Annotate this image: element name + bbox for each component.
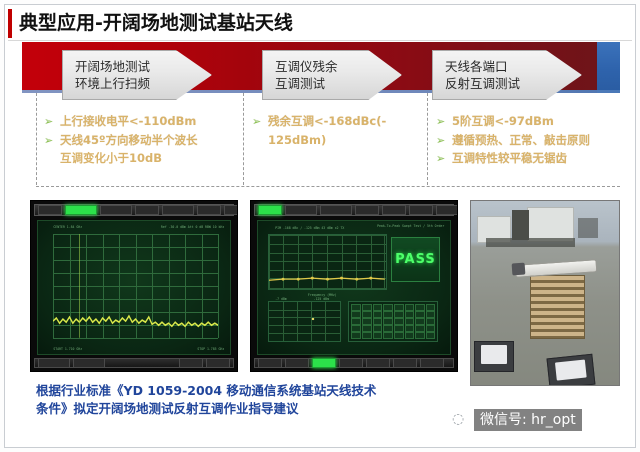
menu-button[interactable] xyxy=(320,205,352,215)
divider-vertical-2 xyxy=(243,93,244,185)
status-field xyxy=(38,358,70,368)
divider-horizontal xyxy=(36,186,620,187)
screen-label-top-left: CENTER 1.84 GHz xyxy=(53,225,82,229)
menu-button[interactable] xyxy=(162,205,194,215)
title-divider xyxy=(8,40,632,41)
footer-tab[interactable] xyxy=(285,358,309,368)
bullet-text: 5阶互调<-97dBm xyxy=(452,114,554,128)
bullet-item: ➢ 5阶互调<-97dBm xyxy=(436,114,626,130)
photo-building-dark xyxy=(578,218,599,238)
caption-prefix: 根据行业标准《 xyxy=(36,383,124,398)
menu-button[interactable] xyxy=(135,205,159,215)
bullet-text: 残余互调<-168dBc(- xyxy=(268,114,386,128)
divider-vertical-1 xyxy=(36,93,37,185)
photo-antenna-cap xyxy=(512,262,526,275)
spectrum-screen: CENTER 1.84 GHz Ref -30.0 dBm Att 0 dB R… xyxy=(37,220,231,355)
footer-tab[interactable] xyxy=(339,358,363,368)
pim-screen: PIM -168 dBc / -125 dBm 43 dBm x2 TX Pea… xyxy=(257,220,451,355)
bullet-marker-icon: ➢ xyxy=(252,114,261,130)
menu-button[interactable] xyxy=(197,205,221,215)
menu-button[interactable] xyxy=(100,205,132,215)
screen-label-bottom-left: START 1.710 GHz xyxy=(53,347,82,351)
caption-line2: 条件》拟定开阔场地测试反射互调作业指导建议 xyxy=(36,401,299,416)
pim-mini-chart xyxy=(268,301,341,342)
bullet-marker-icon: ➢ xyxy=(44,114,53,130)
instrument-body: PIM -168 dBc / -125 dBm 43 dBm x2 TX Pea… xyxy=(250,200,458,372)
instrument-body: CENTER 1.84 GHz Ref -30.0 dBm Att 0 dB R… xyxy=(30,200,238,372)
footer-tab[interactable] xyxy=(420,358,444,368)
slide-root: 典型应用-开阔场地测试基站天线 开阔场地测试 环境上行扫频 互调仪残余 互调测试… xyxy=(0,0,640,452)
screen-label-bottom-right: STOP 1.785 GHz xyxy=(197,347,224,351)
screen-label-top-left: PIM -168 dBc / -125 dBm 43 dBm x2 TX xyxy=(275,226,344,230)
photo-building-dark xyxy=(512,210,528,239)
status-field xyxy=(73,358,105,368)
footer-tab[interactable] xyxy=(258,358,282,368)
bullet-marker-icon: ➢ xyxy=(436,133,445,149)
bullet-item: ➢ 天线45º方向移动半个波长 xyxy=(44,133,240,149)
pim-mini-chart-label-left: -7 dBm xyxy=(275,297,287,301)
menu-button[interactable] xyxy=(285,205,317,215)
caption: 根据行业标准《YD 1059-2004 移动通信系统基站天线技术 条件》拟定开阔… xyxy=(36,382,456,418)
photo-content xyxy=(470,200,620,386)
caption-standard-number: YD 1059-2004 xyxy=(124,383,223,398)
bullet-item: ➢ 上行接收电平<-110dBm xyxy=(44,114,240,130)
photo-equipment-case xyxy=(474,341,514,372)
wechat-icon: ◌ xyxy=(452,410,470,428)
caption-suffix: 移动通信系统基站天线技术 xyxy=(222,383,376,398)
bullet-text: 天线45º方向移动半个波长 xyxy=(60,133,198,147)
divider-vertical-3 xyxy=(427,93,428,185)
screen-label-top-right: Peak-To-Peak Swept Test / 5th Order xyxy=(377,224,444,228)
footer-tab-active[interactable] xyxy=(312,358,336,368)
bullet-item: ➢ 互调特性较平稳无锯齿 xyxy=(436,151,626,167)
page-title: 典型应用-开阔场地测试基站天线 xyxy=(8,8,632,40)
pim-sweep-trace xyxy=(269,235,386,289)
table-row xyxy=(351,304,435,311)
bullet-text: 互调特性较平稳无锯齿 xyxy=(452,151,567,165)
menu-button[interactable] xyxy=(38,205,62,215)
banner-step-3-line1: 天线各端口 xyxy=(445,58,508,75)
photo-vehicle xyxy=(486,238,575,247)
menu-button[interactable] xyxy=(382,205,406,215)
screen-label-top-right: Ref -30.0 dBm Att 0 dB RBW 10 kHz xyxy=(161,225,224,229)
pim-mini-chart-label-right: -125 dBm xyxy=(314,297,329,301)
menu-button[interactable] xyxy=(409,205,433,215)
menu-button-active[interactable] xyxy=(65,205,97,215)
photo-building xyxy=(527,207,573,242)
menu-button[interactable] xyxy=(436,205,458,215)
bullet-column-1: ➢ 上行接收电平<-110dBm ➢ 天线45º方向移动半个波长 互调变化小于1… xyxy=(44,114,240,170)
instrument-footer-tabs[interactable] xyxy=(254,358,454,368)
bullet-text-continuation: 互调变化小于10dB xyxy=(44,151,240,167)
instrument-menu-bar[interactable] xyxy=(254,204,454,216)
spectrum-analyzer-screenshot: CENTER 1.84 GHz Ref -30.0 dBm Att 0 dB R… xyxy=(30,200,238,372)
bullet-text: 上行接收电平<-110dBm xyxy=(60,114,196,128)
footer-tab[interactable] xyxy=(366,358,390,368)
pim-data-table xyxy=(348,301,438,342)
table-row xyxy=(351,311,435,318)
field-test-photo xyxy=(470,200,620,386)
bullet-column-2: ➢ 残余互调<-168dBc(- 125dBm) xyxy=(252,114,420,151)
bullet-text: 遵循预热、正常、敲击原则 xyxy=(452,133,590,147)
title-accent-bar xyxy=(8,9,12,38)
title-text: 典型应用-开阔场地测试基站天线 xyxy=(19,8,293,38)
pim-sweep-chart xyxy=(268,234,387,290)
bullet-item: ➢ 遵循预热、正常、敲击原则 xyxy=(436,133,626,149)
pim-analyzer-screenshot: PIM -168 dBc / -125 dBm 43 dBm x2 TX Pea… xyxy=(250,200,458,372)
photo-equipment-case xyxy=(546,353,595,386)
watermark-text: 微信号: hr_opt xyxy=(474,409,582,431)
photo-pallet-stack xyxy=(530,275,585,340)
status-field xyxy=(206,358,230,368)
table-row xyxy=(351,318,435,325)
bullet-marker-icon: ➢ xyxy=(436,151,445,167)
bullet-marker-icon: ➢ xyxy=(44,133,53,149)
bullet-marker-icon: ➢ xyxy=(436,114,445,130)
spectrum-trace xyxy=(53,234,218,338)
pass-indicator: PASS xyxy=(391,237,441,282)
banner-step-1-line1: 开阔场地测试 xyxy=(75,58,150,75)
bullet-column-3: ➢ 5阶互调<-97dBm ➢ 遵循预热、正常、敲击原则 ➢ 互调特性较平稳无锯… xyxy=(436,114,626,170)
instrument-menu-bar[interactable] xyxy=(34,204,234,216)
footer-tab[interactable] xyxy=(393,358,417,368)
pass-text: PASS xyxy=(395,252,436,267)
bullet-text-continuation: 125dBm) xyxy=(252,133,420,149)
table-row xyxy=(351,332,435,339)
status-field xyxy=(179,358,203,368)
banner-step-1-line2: 环境上行扫频 xyxy=(75,75,150,92)
menu-button[interactable] xyxy=(355,205,379,215)
banner-step-2-line1: 互调仪残余 xyxy=(275,58,338,75)
bullet-item: ➢ 残余互调<-168dBc(- xyxy=(252,114,420,130)
table-row xyxy=(351,325,435,332)
menu-button-active[interactable] xyxy=(258,205,282,215)
banner-step-3-line2: 反射互调测试 xyxy=(445,75,520,92)
menu-button[interactable] xyxy=(224,205,238,215)
banner-blue-segment xyxy=(597,42,620,93)
instrument-status-bar xyxy=(34,358,234,368)
banner-step-2-line2: 互调测试 xyxy=(275,75,325,92)
